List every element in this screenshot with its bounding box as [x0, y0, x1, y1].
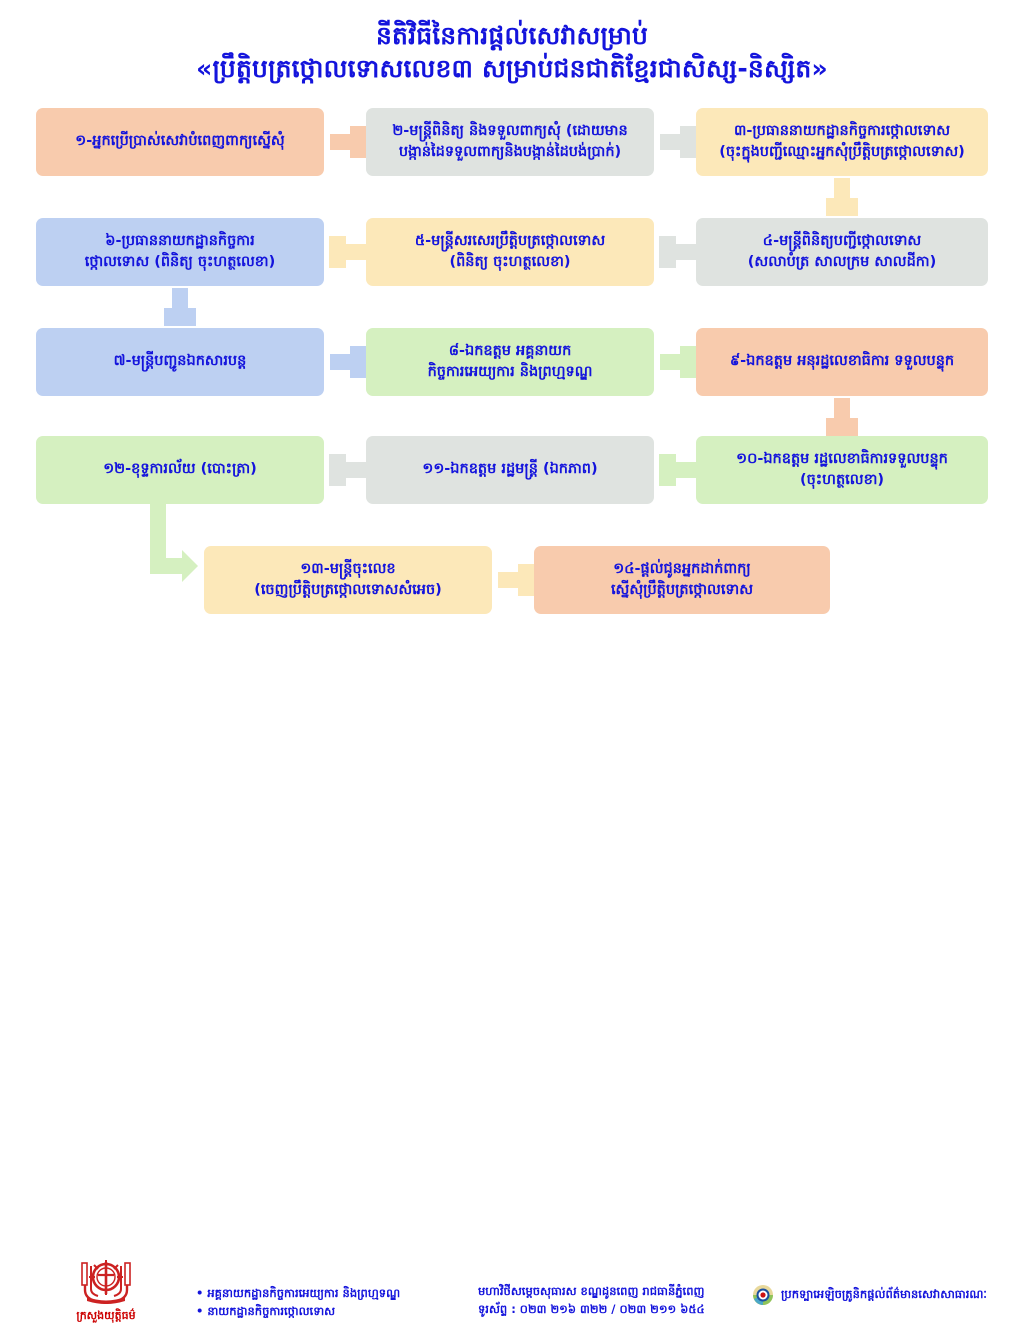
flow-node-2-label: ២-មន្ត្រីពិនិត្យ និងទទួលពាក្យសុំ (ដោយមាន… — [392, 121, 627, 163]
flow-node-8[interactable]: ៨-ឯកឧត្តម អគ្គនាយក កិច្ចការអេយ្យការ និងព… — [366, 328, 654, 396]
flow-node-5[interactable]: ៥-មន្ត្រីសរសេរប្រឹត្តិបត្រថ្កោលទោស (ពិនិ… — [366, 218, 654, 286]
footer-bullet-1: • អគ្គនាយកដ្ឋានកិច្ចការអេយ្យការ និងព្រហ្… — [196, 1284, 400, 1302]
flow-node-5-label: ៥-មន្ត្រីសរសេរប្រឹត្តិបត្រថ្កោលទោស (ពិនិ… — [415, 231, 605, 273]
flow-node-10[interactable]: ១០-ឯកឧត្តម រដ្ឋលេខាធិការទទួលបន្ទុក (ចុះហ… — [696, 436, 988, 504]
flow-node-8-label: ៨-ឯកឧត្តម អគ្គនាយក កិច្ចការអេយ្យការ និងព… — [428, 341, 593, 383]
flow-node-12-label: ១២-ខុទ្ទការល័យ (បោះត្រា) — [103, 459, 257, 480]
flow-node-1[interactable]: ១-អ្នកប្រើប្រាស់សេវាបំពេញពាក្យស្នើសុំ — [36, 108, 324, 176]
arrow-1-to-2 — [330, 126, 366, 158]
arrow-2-to-3 — [660, 126, 696, 158]
flow-node-3-label: ៣-ប្រធាននាយកដ្ឋានកិច្ចការថ្កោលទោស (ចុះក្… — [719, 121, 965, 163]
flow-node-6-label: ៦-ប្រធាននាយកដ្ឋានកិច្ចការ ថ្កោលទោស (ពិនិ… — [85, 231, 276, 273]
footer-bullet-2: • នាយកដ្ឋានកិច្ចការថ្កោលទោស — [196, 1302, 400, 1320]
flow-node-11-label: ១១-ឯកឧត្តម រដ្ឋមន្ត្រី (ឯកភាព) — [422, 459, 597, 480]
arrow-9-to-10 — [826, 398, 858, 436]
arrow-10-to-11 — [660, 454, 696, 486]
flow-node-14-label: ១៤-ផ្តល់ជូនអ្នកដាក់ពាក្យ ស្នើសុំប្រឹត្តិ… — [611, 559, 753, 601]
arrow-3-to-4 — [826, 178, 858, 216]
flow-node-13-label: ១៣-មន្ត្រីចុះលេខ (ចេញប្រឹត្តិបត្រថ្កោលទោ… — [254, 559, 442, 601]
footer-address-line-1: មហាវិថីសម្តេចសុធារស ខណ្ឌដូនពេញ រាជធានីភ្… — [478, 1282, 705, 1300]
ministry-logo-caption: ក្រសួងយុត្តិធម៌ — [58, 1309, 154, 1325]
flow-node-4-label: ៤-មន្ត្រីពិនិត្យបញ្ជីថ្កោលទោស (សលាបំត្រ … — [748, 231, 936, 273]
footer: ក្រសួងយុត្តិធម៌ • អគ្គនាយកដ្ឋានកិច្ចការអ… — [0, 624, 1024, 724]
footer-bullets: • អគ្គនាយកដ្ឋានកិច្ចការអេយ្យការ និងព្រហ្… — [196, 1284, 400, 1321]
footer-web-note-text: ប្រកទ្បាអេឡិចត្រូនិកផ្តល់ព័ត៌មានសេវាសាធា… — [781, 1287, 987, 1304]
flow-node-9-label: ៩-ឯកឧត្តម អនុរដ្ឋលេខាធិការ ទទួលបន្ទុក — [730, 351, 954, 372]
flow-node-2[interactable]: ២-មន្ត្រីពិនិត្យ និងទទួលពាក្យសុំ (ដោយមាន… — [366, 108, 654, 176]
flow-node-3[interactable]: ៣-ប្រធាននាយកដ្ឋានកិច្ចការថ្កោលទោស (ចុះក្… — [696, 108, 988, 176]
flow-node-11[interactable]: ១១-ឯកឧត្តម រដ្ឋមន្ត្រី (ឯកភាព) — [366, 436, 654, 504]
footer-web-note[interactable]: ប្រកទ្បាអេឡិចត្រូនិកផ្តល់ព័ត៌មានសេវាសាធា… — [752, 1284, 987, 1306]
flow-node-7[interactable]: ៧-មន្ត្រីបញ្ជូនឯកសារបន្ត — [36, 328, 324, 396]
flow-node-10-label: ១០-ឯកឧត្តម រដ្ឋលេខាធិការទទួលបន្ទុក (ចុះហ… — [736, 449, 948, 491]
arrow-5-to-6 — [330, 236, 366, 268]
flow-node-4[interactable]: ៤-មន្ត្រីពិនិត្យបញ្ជីថ្កោលទោស (សលាបំត្រ … — [696, 218, 988, 286]
arrow-13-to-14 — [498, 564, 534, 596]
flow-node-13[interactable]: ១៣-មន្ត្រីចុះលេខ (ចេញប្រឹត្តិបត្រថ្កោលទោ… — [204, 546, 492, 614]
flow-node-12[interactable]: ១២-ខុទ្ទការល័យ (បោះត្រា) — [36, 436, 324, 504]
ministry-logo-block: ក្រសួងយុត្តិធម៌ — [58, 1256, 154, 1325]
footer-address: មហាវិថីសម្តេចសុធារស ខណ្ឌដូនពេញ រាជធានីភ្… — [478, 1282, 705, 1319]
e-service-portal-icon — [752, 1284, 774, 1306]
flow-node-14[interactable]: ១៤-ផ្តល់ជូនអ្នកដាក់ពាក្យ ស្នើសុំប្រឹត្តិ… — [534, 546, 830, 614]
flow-node-1-label: ១-អ្នកប្រើប្រាស់សេវាបំពេញពាក្យស្នើសុំ — [75, 131, 284, 152]
flowchart-canvas: ១-អ្នកប្រើប្រាស់សេវាបំពេញពាក្យស្នើសុំ ២-… — [0, 0, 1024, 724]
arrow-4-to-5 — [660, 236, 696, 268]
flow-node-9[interactable]: ៩-ឯកឧត្តម អនុរដ្ឋលេខាធិការ ទទួលបន្ទុក — [696, 328, 988, 396]
ministry-of-justice-logo-icon — [75, 1256, 137, 1304]
flow-node-7-label: ៧-មន្ត្រីបញ្ជូនឯកសារបន្ត — [114, 351, 247, 372]
arrow-7-to-8 — [330, 346, 366, 378]
arrow-8-to-9 — [660, 346, 696, 378]
footer-phone-line: ទូរស័ព្ទ : ០២៣ ២១៦ ៣២២ / ០២៣ ២១១ ៦៥៤ — [478, 1300, 705, 1318]
arrow-6-to-7 — [164, 288, 196, 326]
flow-node-6[interactable]: ៦-ប្រធាននាយកដ្ឋានកិច្ចការ ថ្កោលទោស (ពិនិ… — [36, 218, 324, 286]
arrow-11-to-12 — [330, 454, 366, 486]
